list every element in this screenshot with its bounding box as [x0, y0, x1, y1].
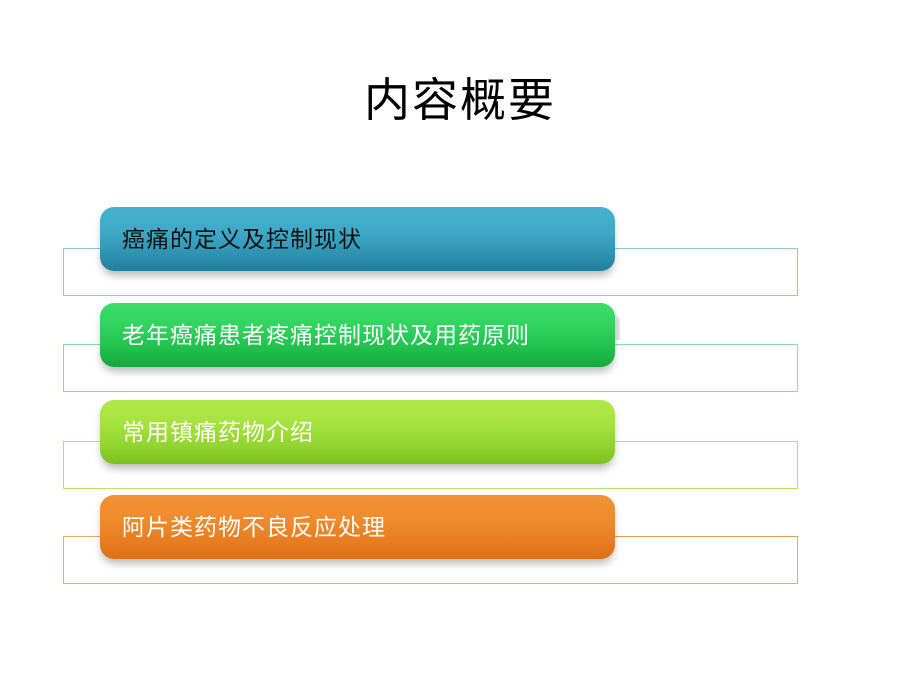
- agenda-item-label: 癌痛的定义及控制现状: [100, 225, 362, 253]
- agenda-pill-4[interactable]: 阿片类药物不良反应处理: [100, 495, 615, 559]
- agenda-row[interactable]: 常用镇痛药物介绍: [0, 400, 920, 496]
- agenda-item-label: 常用镇痛药物介绍: [100, 418, 314, 446]
- agenda-row[interactable]: 阿片类药物不良反应处理: [0, 495, 920, 591]
- agenda-pill-3[interactable]: 常用镇痛药物介绍: [100, 400, 615, 464]
- agenda-pill-1[interactable]: 癌痛的定义及控制现状: [100, 207, 615, 271]
- agenda-row[interactable]: 老年癌痛患者疼痛控制现状及用药原则: [0, 303, 920, 399]
- slide-canvas: 内容概要 www.zixin.com.cn 癌痛的定义及控制现状 老年癌痛患者疼…: [0, 0, 920, 690]
- agenda-pill-2[interactable]: 老年癌痛患者疼痛控制现状及用药原则: [100, 303, 615, 367]
- agenda-item-label: 老年癌痛患者疼痛控制现状及用药原则: [100, 321, 530, 349]
- agenda-row[interactable]: 癌痛的定义及控制现状: [0, 207, 920, 303]
- page-title: 内容概要: [0, 72, 920, 130]
- agenda-item-label: 阿片类药物不良反应处理: [100, 513, 386, 541]
